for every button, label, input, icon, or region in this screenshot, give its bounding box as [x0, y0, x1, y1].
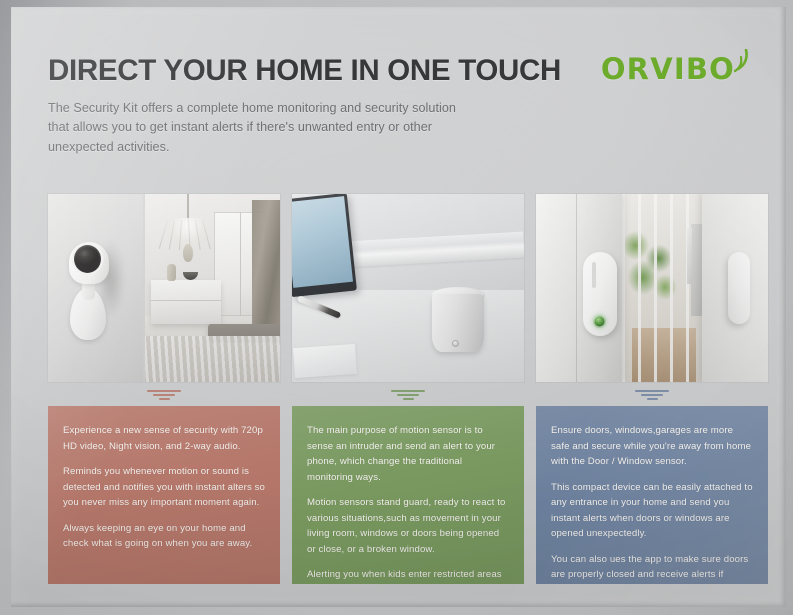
tapering-lines-divider	[536, 382, 768, 406]
camera-wall	[48, 194, 143, 382]
brand-logo: ORVIBO	[581, 55, 756, 95]
sideboard	[151, 280, 221, 324]
brochure-photograph: DIRECT YOUR HOME IN ONE TOUCH The Securi…	[0, 0, 793, 615]
feature-column-door: Ensure doors, windows,garages are more s…	[536, 194, 768, 584]
photo-security-camera-bedroom	[48, 194, 280, 382]
feature-panel-camera: Experience a new sense of security with …	[48, 406, 280, 584]
photo-motion-sensor-desk	[292, 194, 524, 382]
feature-panel-motion: The main purpose of motion sensor is to …	[292, 406, 524, 584]
doorway-view	[622, 194, 702, 382]
door-sensor-led-icon	[593, 315, 606, 328]
tablet-device	[292, 194, 357, 297]
page-title: DIRECT YOUR HOME IN ONE TOUCH	[48, 55, 588, 86]
page-subtitle: The Security Kit offers a complete home …	[48, 99, 478, 156]
panel-paragraph: This compact device can be easily attach…	[551, 480, 753, 542]
panel-paragraph: You can also ues the app to make sure do…	[551, 552, 753, 584]
feature-columns: Experience a new sense of security with …	[48, 194, 768, 584]
panel-paragraph: Ensure doors, windows,garages are more s…	[551, 423, 753, 470]
wifi-waves-icon	[732, 49, 756, 75]
door-sensor-magnet	[728, 252, 750, 324]
feature-column-motion: The main purpose of motion sensor is to …	[292, 194, 524, 584]
panel-paragraph: Motion sensors stand guard, ready to rea…	[307, 495, 509, 557]
feature-column-camera: Experience a new sense of security with …	[48, 194, 280, 584]
panel-paragraph: Reminds you whenever motion or sound is …	[63, 464, 265, 511]
panel-paragraph: The main purpose of motion sensor is to …	[307, 423, 509, 485]
tapering-lines-divider	[292, 382, 524, 406]
feature-panel-door: Ensure doors, windows,garages are more s…	[536, 406, 768, 584]
panel-paragraph: Alerting you when kids enter restricted …	[307, 567, 509, 584]
brochure-sheet: DIRECT YOUR HOME IN ONE TOUCH The Securi…	[11, 7, 786, 607]
bedroom-scene	[145, 194, 280, 382]
door-sensor-main	[583, 252, 617, 336]
photo-door-window-sensor	[536, 194, 768, 382]
header: DIRECT YOUR HOME IN ONE TOUCH The Securi…	[48, 55, 588, 157]
tapering-lines-divider	[48, 382, 280, 406]
panel-paragraph: Experience a new sense of security with …	[63, 423, 265, 454]
camera-lens-icon	[74, 245, 101, 273]
chandelier	[161, 218, 215, 258]
panel-paragraph: Always keeping an eye on your home and c…	[63, 521, 265, 552]
brand-wordmark: ORVIBO	[601, 55, 735, 85]
motion-sensor-led-icon	[452, 340, 459, 347]
